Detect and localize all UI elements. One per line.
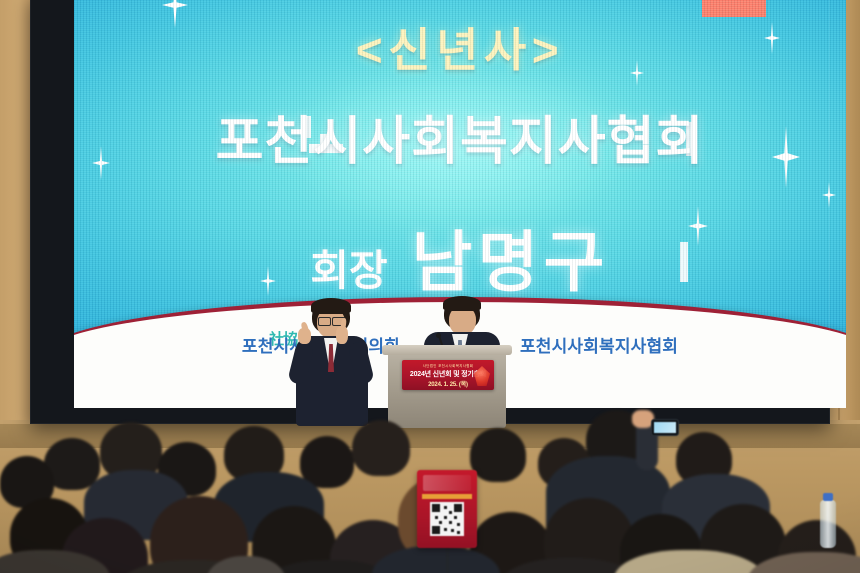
sparkle-star-icon: [688, 206, 708, 246]
speaker-name-label: 남명구: [412, 225, 610, 299]
screen-artifact: [686, 122, 693, 156]
audience-head: [470, 428, 526, 482]
screen-artifact: [320, 134, 330, 144]
screen-glow: [213, 27, 707, 267]
sparkle-star-icon: [92, 146, 110, 180]
podium-event-sign: 사단법인 포천시사회복지사협회 2024년 신년회 및 정기총회 2024. 1…: [402, 360, 494, 390]
screen-headline-line3: 회장남명구: [74, 209, 846, 305]
placard-title-bar: [423, 475, 471, 491]
coral-accent-rectangle: [702, 0, 766, 17]
qr-code-icon: [430, 502, 464, 536]
screen-artifact: [301, 116, 311, 138]
banner-text-right: 포천시사회복지사협회: [520, 332, 678, 357]
speaker-hair-top: [443, 296, 481, 311]
glasses-icon: [318, 317, 331, 326]
smartphone: [651, 419, 679, 436]
sparkle-star-icon: [630, 60, 644, 86]
screen-artifact: [680, 242, 688, 282]
placard-accent-band: [422, 494, 472, 499]
smartphone-screen: [654, 422, 676, 433]
microphone-head-icon: [436, 333, 441, 338]
screen-headline-line2: 포천시사회복지사협회: [74, 99, 846, 174]
screen-artifact: [309, 144, 343, 153]
sparkle-star-icon: [260, 266, 276, 296]
water-bottle: [820, 500, 836, 548]
qr-placard: [417, 470, 477, 548]
sparkle-star-icon: [772, 126, 800, 188]
screen-headline-line1: <신년사>: [74, 14, 846, 80]
sparkle-star-icon: [764, 22, 780, 54]
photo-scene: <신년사> 포천시사회복지사협회 회장남명구 社協 포천시사회복지협의회 포천시…: [0, 0, 860, 573]
speaker-role-label: 회장: [310, 247, 387, 294]
audience-head: [352, 420, 410, 476]
podium-top: [382, 345, 512, 355]
interpreter-hair-top: [311, 298, 351, 314]
sparkle-star-icon: [108, 324, 134, 380]
sparkle-star-icon: [162, 0, 188, 28]
podium-sign-line1: 사단법인 포천시사회복지사협회: [402, 363, 494, 368]
placard-handle: [446, 546, 449, 573]
bottle-cap: [823, 493, 833, 501]
